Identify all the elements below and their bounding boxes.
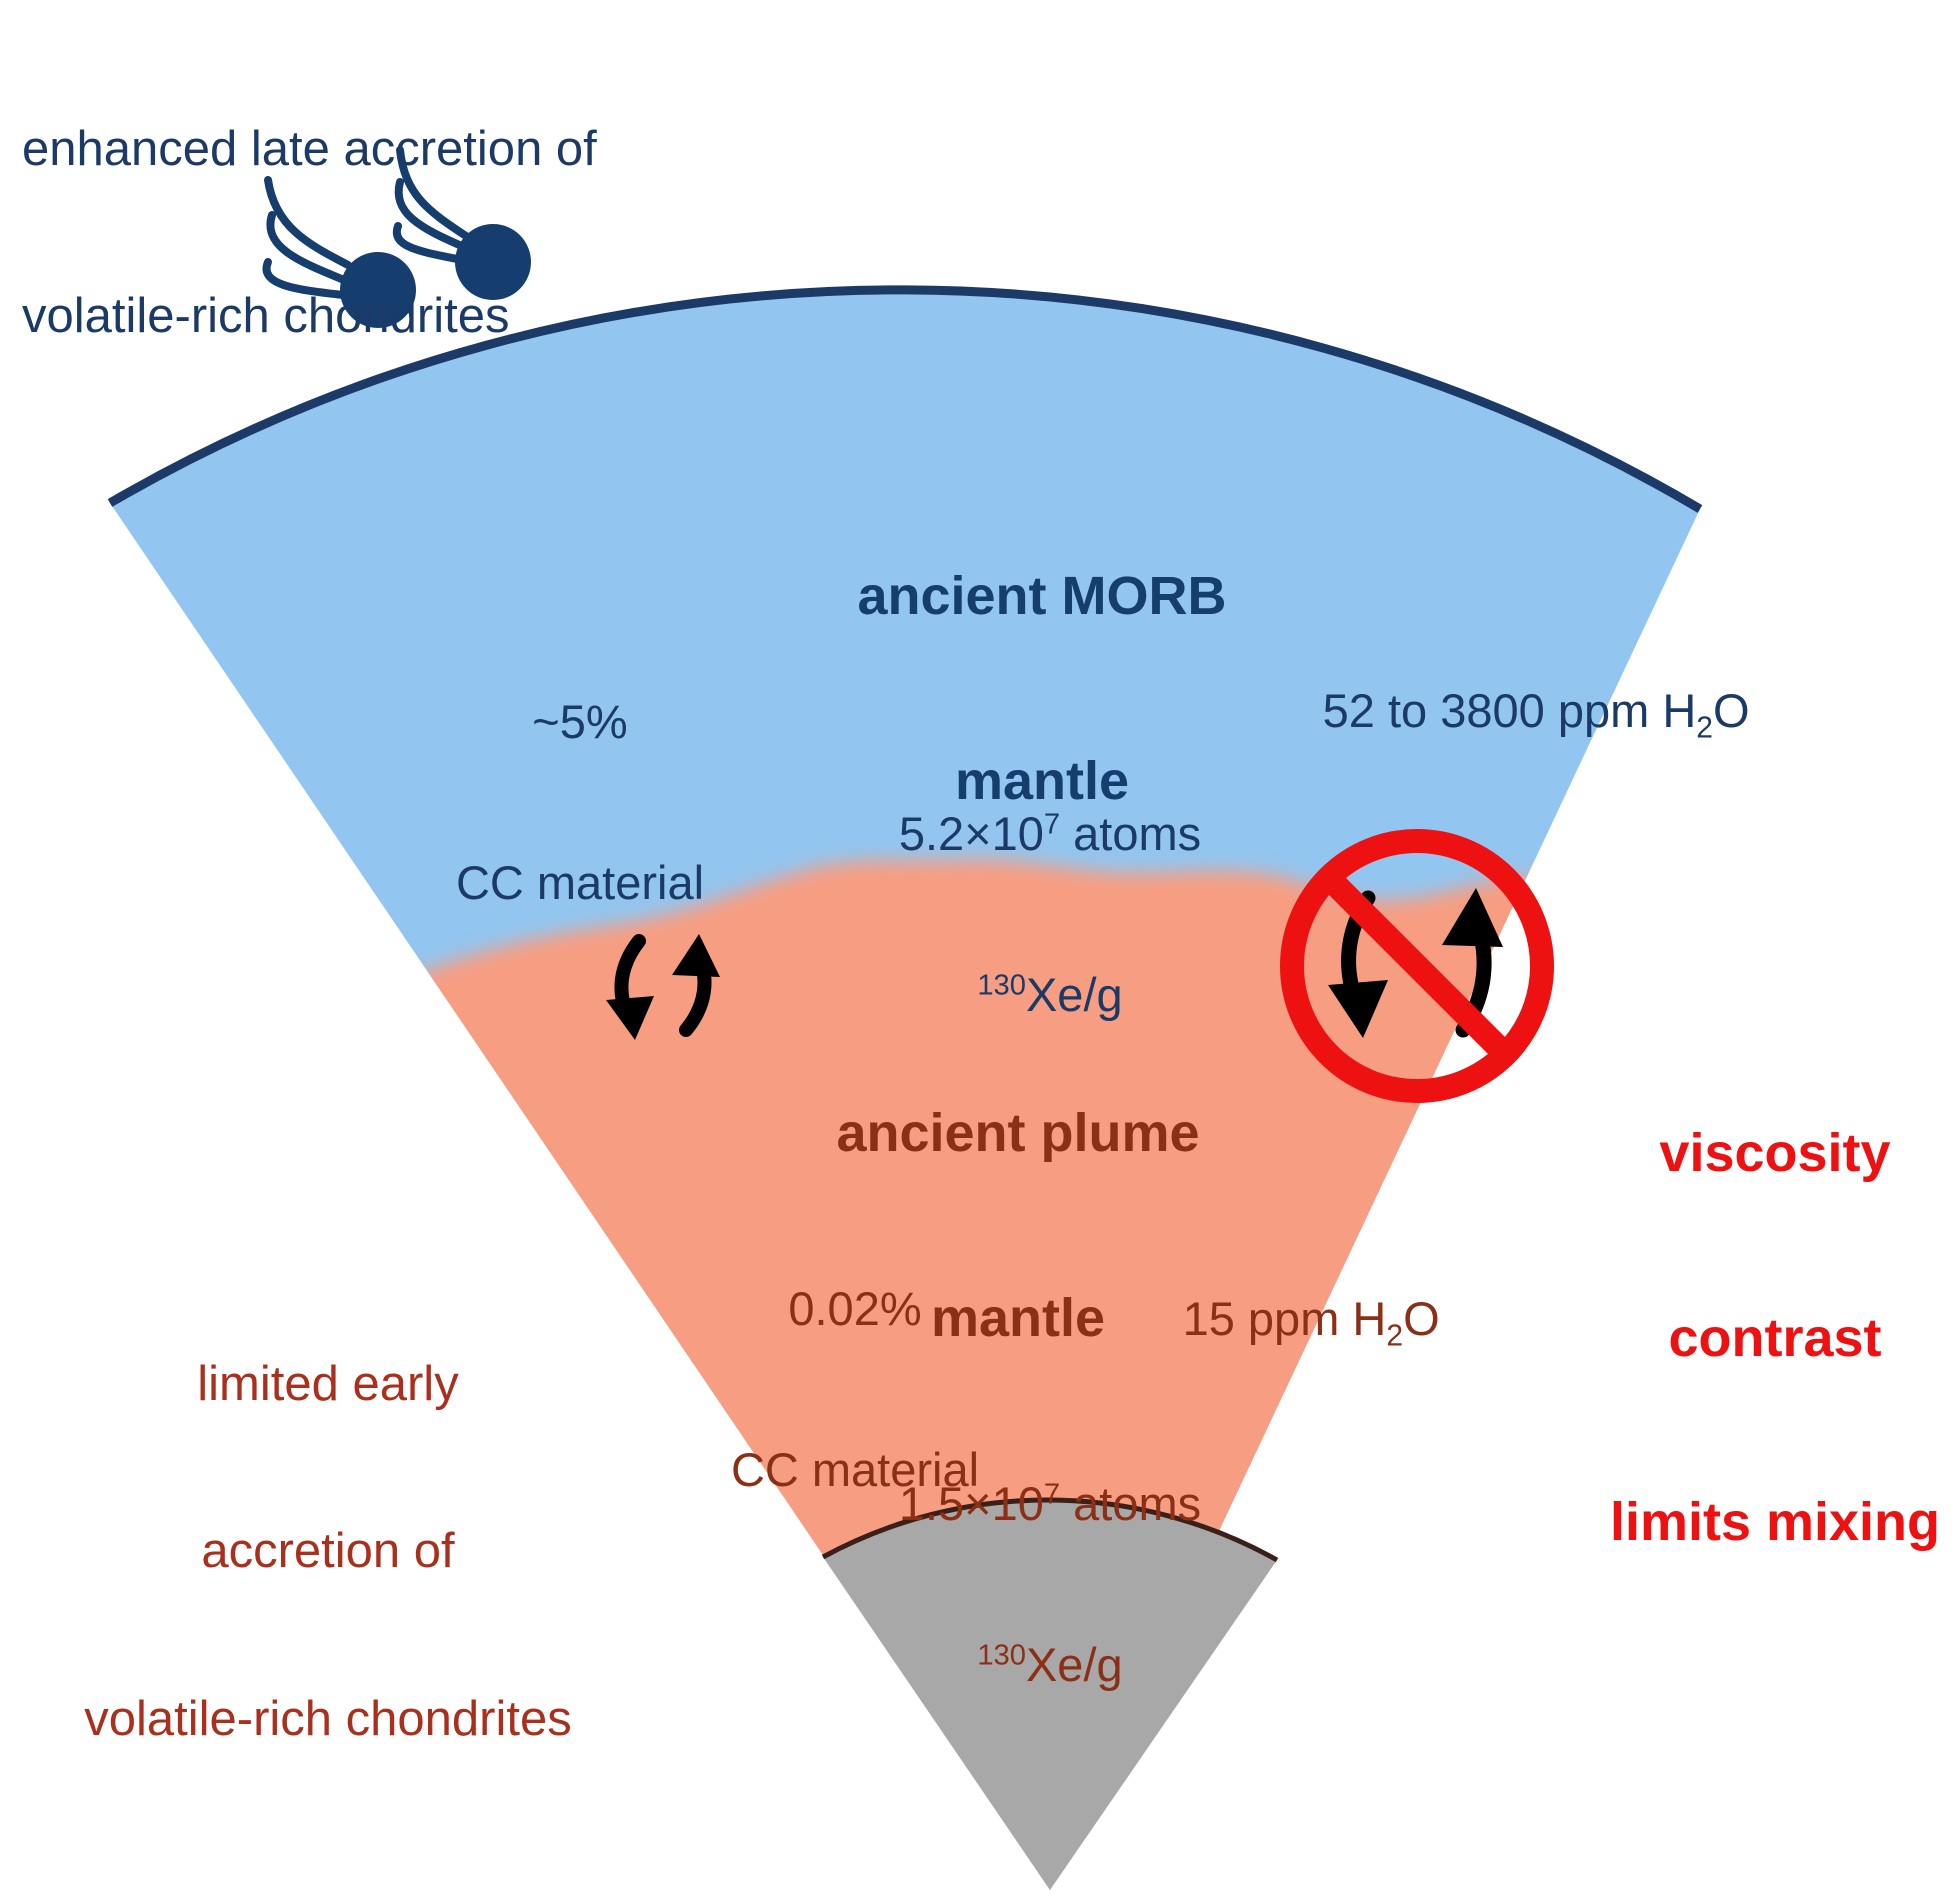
upper-xenon-exponent: 7: [1044, 809, 1060, 841]
upper-xenon-mantissa: 5.2×10: [899, 807, 1044, 860]
lower-layer-title-line1: ancient plume: [836, 1103, 1199, 1165]
lower-water-prefix: 15 ppm H: [1183, 1292, 1387, 1345]
lower-water-suffix: O: [1403, 1292, 1440, 1345]
annotation-viscosity-contrast: viscosity contrast limits mixing: [1610, 1000, 1940, 1677]
upper-xenon-unit: atoms: [1060, 807, 1201, 860]
upper-xenon-line1: 5.2×107 atoms: [899, 807, 1201, 861]
lower-xenon-content: 1.5×107 atoms 130Xe/g: [899, 1370, 1201, 1799]
annotation-line: viscosity: [1610, 1123, 1940, 1185]
annotation-enhanced-late-accretion: enhanced late accretion of volatile-rich…: [22, 10, 597, 457]
upper-cc-label: CC material: [456, 856, 704, 910]
annotation-line: accretion of: [84, 1524, 572, 1580]
upper-cc-percent: ~5%: [456, 695, 704, 749]
upper-water-subscript: 2: [1696, 711, 1713, 744]
annotation-line: limits mixing: [1610, 1492, 1940, 1554]
lower-xenon-unit: atoms: [1060, 1477, 1201, 1530]
lower-water-subscript: 2: [1386, 1319, 1403, 1352]
lower-cc-percent: 0.02%: [731, 1282, 979, 1336]
upper-water-content: 52 to 3800 ppm H2O: [1270, 630, 1749, 791]
annotation-line: volatile-rich chondrites: [84, 1692, 572, 1748]
figure-canvas: enhanced late accretion of volatile-rich…: [0, 0, 1956, 1902]
lower-xenon-line1: 1.5×107 atoms: [899, 1477, 1201, 1531]
upper-water-suffix: O: [1713, 684, 1750, 737]
lower-xenon-exponent: 7: [1044, 1479, 1060, 1511]
upper-water-prefix: 52 to 3800 ppm H: [1323, 684, 1697, 737]
lower-xenon-line2: 130Xe/g: [899, 1638, 1201, 1692]
lower-xenon-isotope: 130: [977, 1639, 1026, 1671]
lower-xenon-species: Xe/g: [1026, 1638, 1123, 1691]
annotation-line: contrast: [1610, 1308, 1940, 1370]
annotation-limited-early-accretion: limited early accretion of volatile-rich…: [84, 1245, 572, 1859]
annotation-line: volatile-rich chondrites: [22, 289, 597, 345]
upper-cc-material: ~5% CC material: [456, 588, 704, 1017]
lower-xenon-mantissa: 1.5×10: [899, 1477, 1044, 1530]
annotation-line: limited early: [84, 1357, 572, 1413]
upper-layer-title-line1: ancient MORB: [857, 566, 1226, 628]
annotation-line: enhanced late accretion of: [22, 122, 597, 178]
